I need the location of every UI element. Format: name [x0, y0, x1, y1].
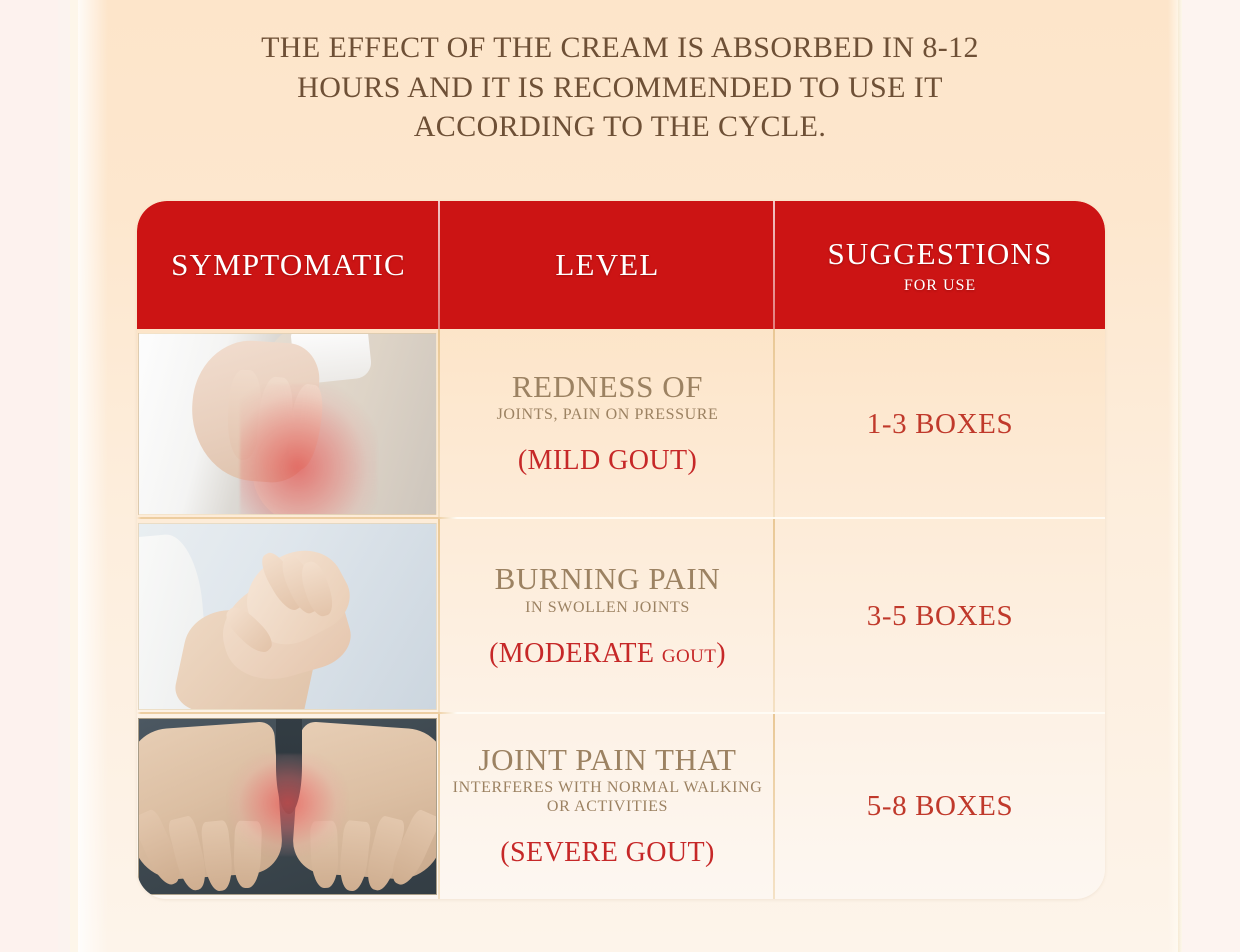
title-line-2: HOURS AND IT IS RECOMMENDED TO USE IT — [160, 68, 1080, 108]
table-row: BURNING PAIN IN SWOLLEN JOINTS (MODERATE… — [137, 519, 1105, 714]
column-header-suggestions-sublabel: FOR USE — [904, 277, 976, 295]
level-cell: REDNESS OF JOINTS, PAIN ON PRESSURE (MIL… — [440, 329, 775, 519]
column-header-suggestions-label: SUGGESTIONS — [827, 236, 1052, 272]
column-header-symptomatic: SYMPTOMATIC — [137, 201, 440, 329]
column-header-symptomatic-label: SYMPTOMATIC — [171, 247, 406, 283]
level-main-text: BURNING PAIN — [495, 563, 721, 596]
severity-tag-open: (MODERATE — [489, 638, 662, 669]
level-sub-text: IN SWOLLEN JOINTS — [525, 599, 690, 618]
level-cell: BURNING PAIN IN SWOLLEN JOINTS (MODERATE… — [440, 519, 775, 714]
level-severity-tag: (MODERATE GOUT) — [489, 638, 726, 670]
severity-tag-open: (SEVERE GOUT) — [500, 837, 714, 868]
severity-tag-small: GOUT — [662, 646, 716, 667]
suggestion-cell: 3-5 BOXES — [775, 519, 1105, 714]
panel-right-edge — [1168, 0, 1182, 952]
severity-tag-close: ) — [716, 638, 726, 669]
level-severity-tag: (MILD GOUT) — [518, 445, 697, 477]
column-header-level: LEVEL — [440, 201, 775, 329]
table-header-row: SYMPTOMATIC LEVEL SUGGESTIONS FOR USE — [137, 201, 1105, 329]
hand-massage-photo — [138, 523, 437, 710]
level-sub-text: JOINTS, PAIN ON PRESSURE — [497, 406, 719, 425]
suggestion-text: 1-3 BOXES — [867, 408, 1013, 441]
table-row: JOINT PAIN THAT INTERFERES WITH NORMAL W… — [137, 714, 1105, 899]
level-main-text: REDNESS OF — [512, 371, 703, 404]
inflamed-hands-photo — [138, 718, 437, 895]
page-title: THE EFFECT OF THE CREAM IS ABSORBED IN 8… — [160, 28, 1080, 147]
title-line-1: THE EFFECT OF THE CREAM IS ABSORBED IN 8… — [160, 28, 1080, 68]
column-header-suggestions: SUGGESTIONS FOR USE — [775, 201, 1105, 329]
suggestion-cell: 5-8 BOXES — [775, 714, 1105, 899]
suggestion-text: 3-5 BOXES — [867, 600, 1013, 633]
column-header-level-label: LEVEL — [555, 247, 659, 283]
table-row: REDNESS OF JOINTS, PAIN ON PRESSURE (MIL… — [137, 329, 1105, 519]
level-severity-tag: (SEVERE GOUT) — [500, 837, 714, 869]
level-sub-text: INTERFERES WITH NORMAL WALKING OR ACTIVI… — [453, 779, 763, 817]
suggestion-text: 5-8 BOXES — [867, 790, 1013, 823]
level-main-text: JOINT PAIN THAT — [478, 744, 736, 777]
title-line-3: ACCORDING TO THE CYCLE. — [160, 107, 1080, 147]
dosage-table: SYMPTOMATIC LEVEL SUGGESTIONS FOR USE — [137, 201, 1105, 899]
panel-left-sheen — [78, 0, 108, 952]
suggestion-cell: 1-3 BOXES — [775, 329, 1105, 519]
severity-tag-open: (MILD GOUT) — [518, 445, 697, 476]
knee-pain-photo — [138, 333, 437, 515]
symptom-photo-cell — [137, 519, 440, 714]
symptom-photo-cell — [137, 714, 440, 899]
table-body: REDNESS OF JOINTS, PAIN ON PRESSURE (MIL… — [137, 329, 1105, 899]
symptom-photo-cell — [137, 329, 440, 519]
level-cell: JOINT PAIN THAT INTERFERES WITH NORMAL W… — [440, 714, 775, 899]
